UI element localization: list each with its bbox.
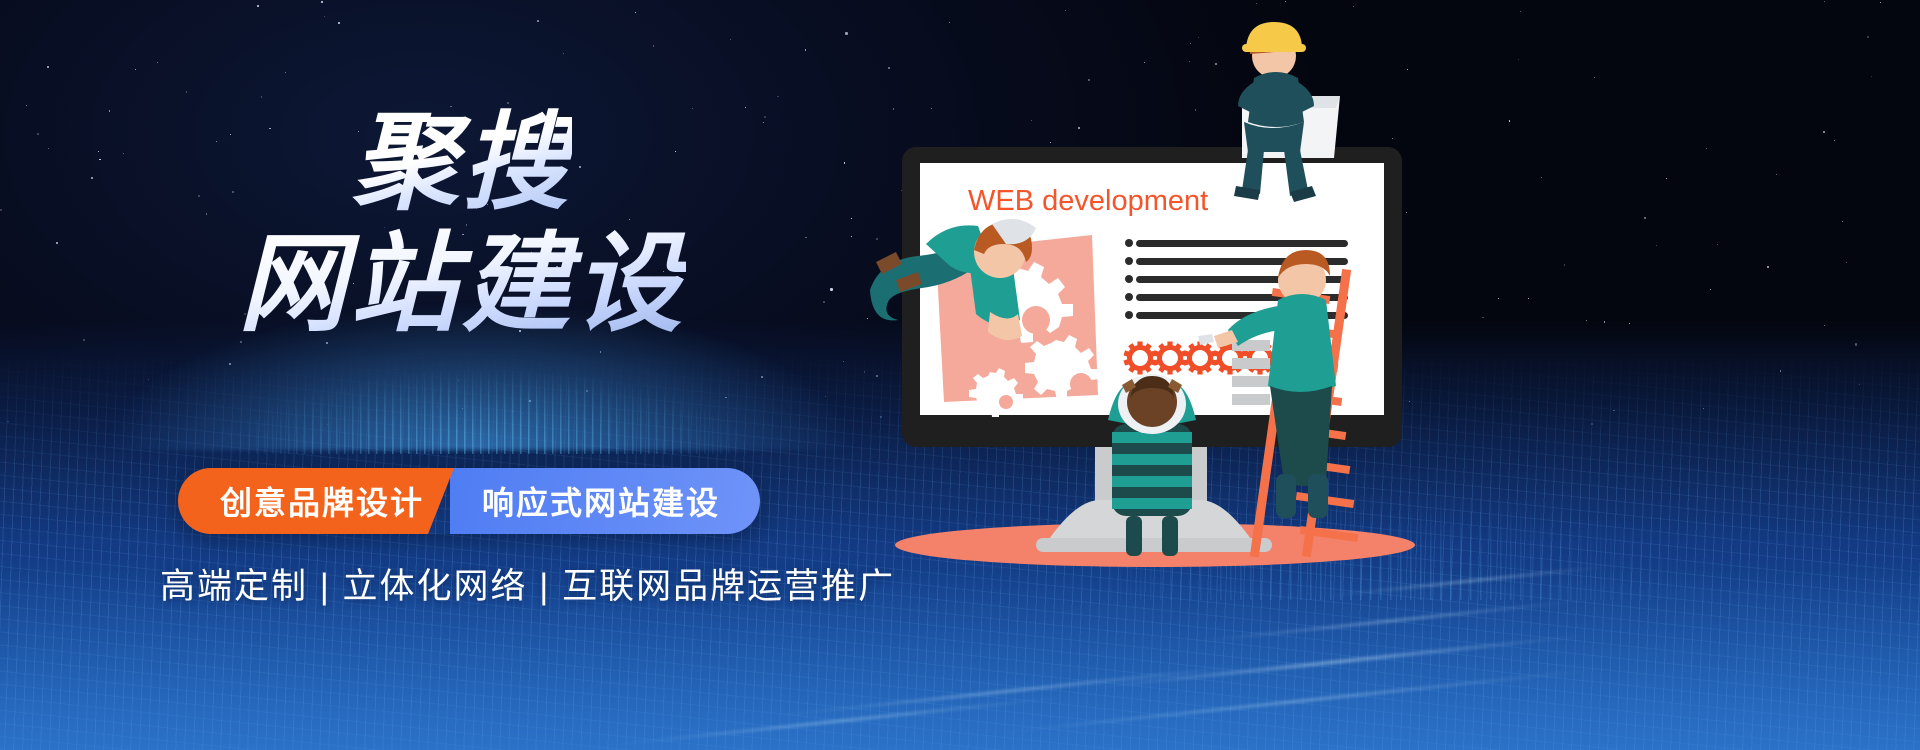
tagline-pill-left[interactable]: 创意品牌设计 (178, 468, 454, 534)
gear-large-hub (1022, 306, 1050, 334)
gear-small-hub (999, 395, 1013, 409)
promo-banner: 聚搜 网站建设 创意品牌设计 响应式网站建设 高端定制 | 立体化网络 | 互联… (0, 0, 1920, 750)
headline-line-1: 聚搜 (352, 108, 572, 218)
tagline-pill-left-label: 创意品牌设计 (220, 478, 424, 524)
illustration: WEB development (840, 0, 1920, 750)
subline-text: 高端定制 | 立体化网络 | 互联网品牌运营推广 (160, 558, 895, 609)
tagline-pill-right-label: 响应式网站建设 (482, 478, 720, 524)
gear-medium-hub (1070, 373, 1092, 395)
tagline-pill: 创意品牌设计 响应式网站建设 (178, 468, 760, 534)
tagline-pill-right[interactable]: 响应式网站建设 (450, 468, 760, 534)
screen-title: WEB development (968, 185, 1208, 217)
headline-line-2: 网站建设 (238, 228, 686, 340)
copy-block: 聚搜 网站建设 创意品牌设计 响应式网站建设 高端定制 | 立体化网络 | 互联… (0, 0, 880, 750)
monitor-base-plate (1036, 538, 1272, 552)
